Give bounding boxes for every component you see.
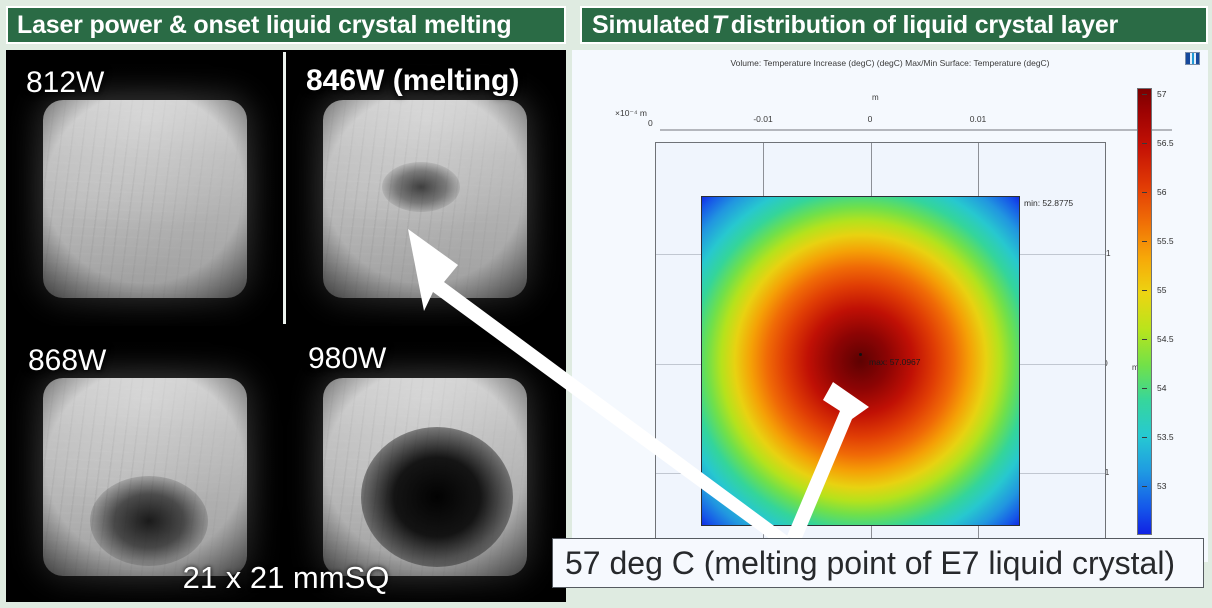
power-label-812w: 812W — [26, 68, 104, 98]
temperature-heatmap-surface: max: 57.0967 — [701, 196, 1020, 526]
min-value-annotation: min: 52.8775 — [1024, 198, 1073, 208]
right-panel-title-banner: Simulated T distribution of liquid cryst… — [580, 6, 1208, 44]
colorbar-tick-535: 53.5 — [1157, 432, 1174, 442]
power-label-868w: 868W — [28, 346, 106, 376]
temperature-colorbar: 57 56.5 56 55.5 55 54.5 54 53.5 53 — [1137, 88, 1189, 535]
tile-divider — [283, 52, 286, 324]
colorbar-tick-54: 54 — [1157, 383, 1166, 393]
plot-title: Volume: Temperature Increase (degC) (deg… — [572, 58, 1208, 68]
x-tick-label-zero: 0 — [868, 114, 873, 124]
sample-square-846w — [323, 100, 527, 298]
sample-texture — [43, 378, 247, 576]
x-axis-unit-label: m — [872, 93, 879, 102]
sample-square-868w — [43, 378, 247, 576]
top-axis-rule — [660, 129, 1172, 131]
colorbar-tick-53: 53 — [1157, 481, 1166, 491]
right-banner-text-post: distribution of liquid crystal layer — [731, 11, 1118, 40]
left-banner-text: Laser power & onset liquid crystal melti… — [17, 11, 512, 40]
right-banner-text-italic: T — [710, 11, 731, 40]
power-label-980w: 980W — [308, 344, 386, 374]
sample-square-812w — [43, 100, 247, 298]
colorbar-tick-55: 55 — [1157, 285, 1166, 295]
slide-stage: Laser power & onset liquid crystal melti… — [0, 0, 1212, 608]
colorbar-tick-545: 54.5 — [1157, 334, 1174, 344]
x-axis-exponent-zero: 0 — [648, 118, 653, 128]
x-axis-exponent-label: ×10⁻⁴ m — [615, 108, 647, 119]
power-label-846w: 846W (melting) — [306, 66, 519, 96]
colorbar-tick-565: 56.5 — [1157, 138, 1174, 148]
max-point-marker — [859, 353, 862, 356]
sample-texture — [323, 378, 527, 576]
colorbar-gradient — [1137, 88, 1152, 535]
colorbar-tick-555: 55.5 — [1157, 236, 1174, 246]
left-panel-title-banner: Laser power & onset liquid crystal melti… — [6, 6, 566, 44]
max-value-annotation: max: 57.0967 — [869, 357, 921, 367]
laser-power-photo-grid: 812W 846W (melting) 868W 980W 21 x 21 mm… — [6, 50, 566, 602]
sample-texture — [43, 100, 247, 298]
sample-texture — [323, 100, 527, 298]
right-banner-text-pre: Simulated — [592, 11, 710, 40]
colorbar-tick-57: 57 — [1157, 89, 1166, 99]
caption-text: 57 deg C (melting point of E7 liquid cry… — [565, 545, 1175, 582]
sample-size-label: 21 x 21 mmSQ — [6, 560, 566, 596]
x-tick-label-neg001: -0.01 — [753, 114, 772, 124]
sample-square-980w — [323, 378, 527, 576]
x-tick-label-pos001: 0.01 — [970, 114, 987, 124]
melting-point-caption: 57 deg C (melting point of E7 liquid cry… — [552, 538, 1204, 588]
colorbar-tick-56: 56 — [1157, 187, 1166, 197]
comsol-logo-icon — [1185, 52, 1200, 65]
